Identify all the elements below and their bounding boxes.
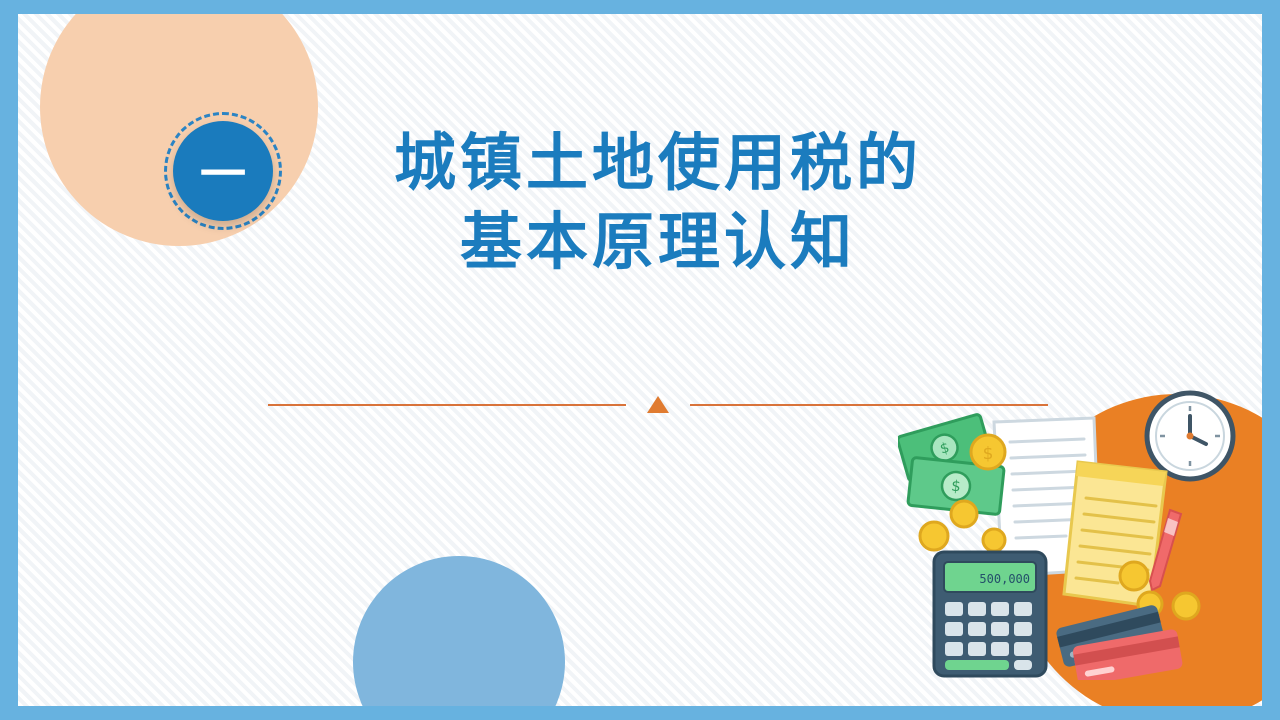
- section-number-label: 一: [173, 121, 273, 221]
- section-number-badge: 一: [164, 112, 282, 230]
- finance-illustration: $ $ $: [898, 390, 1238, 680]
- page-title-line-1: 城镇土地使用税的: [288, 124, 1028, 203]
- credit-cards-icon: [1055, 604, 1183, 680]
- slide-inner-panel: 一 城镇土地使用税的 基本原理认知: [18, 14, 1262, 706]
- slide-canvas: 一 城镇土地使用税的 基本原理认知: [0, 0, 1280, 720]
- page-title: 城镇土地使用税的 基本原理认知: [288, 124, 1028, 283]
- svg-text:$: $: [983, 444, 994, 464]
- calculator-display: 500,000: [979, 572, 1030, 586]
- wall-clock-icon: [1147, 393, 1233, 479]
- divider-triangle-icon: [647, 396, 669, 413]
- calculator-icon: 500,000: [934, 552, 1046, 676]
- blue-circle-decoration: [353, 556, 565, 706]
- divider-rule-left: [268, 404, 626, 406]
- page-title-line-2: 基本原理认知: [288, 203, 1028, 282]
- svg-text:$: $: [950, 477, 961, 496]
